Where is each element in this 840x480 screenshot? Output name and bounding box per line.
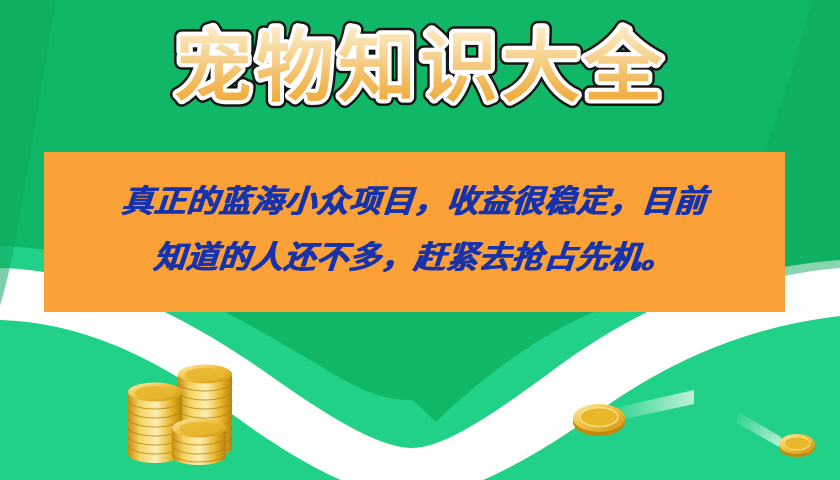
flying-coin-right-icon: [735, 405, 840, 475]
title-text-fill: 宠物知识大全: [174, 23, 666, 113]
coin-trail: [737, 411, 783, 449]
coin-stacks-icon: [120, 358, 250, 478]
poster-canvas: 宠物知识大全 宠物知识大全 宠物知识大全 真正的蓝海小众项目，收益很稳定，目前 …: [0, 0, 840, 480]
coin: [779, 434, 815, 457]
banner-line-2: 知道的人还不多，赶紧去抢占先机。: [153, 236, 677, 278]
coin-stack-front-right: [172, 419, 226, 466]
banner-line-1: 真正的蓝海小众项目，收益很稳定，目前: [120, 180, 709, 222]
flying-coin-center-icon: [566, 388, 696, 458]
orange-banner: 真正的蓝海小众项目，收益很稳定，目前 知道的人还不多，赶紧去抢占先机。: [44, 152, 785, 312]
poster-title: 宠物知识大全 宠物知识大全 宠物知识大全: [0, 14, 840, 120]
title-svg: 宠物知识大全 宠物知识大全 宠物知识大全: [120, 14, 720, 120]
coin: [573, 404, 625, 436]
